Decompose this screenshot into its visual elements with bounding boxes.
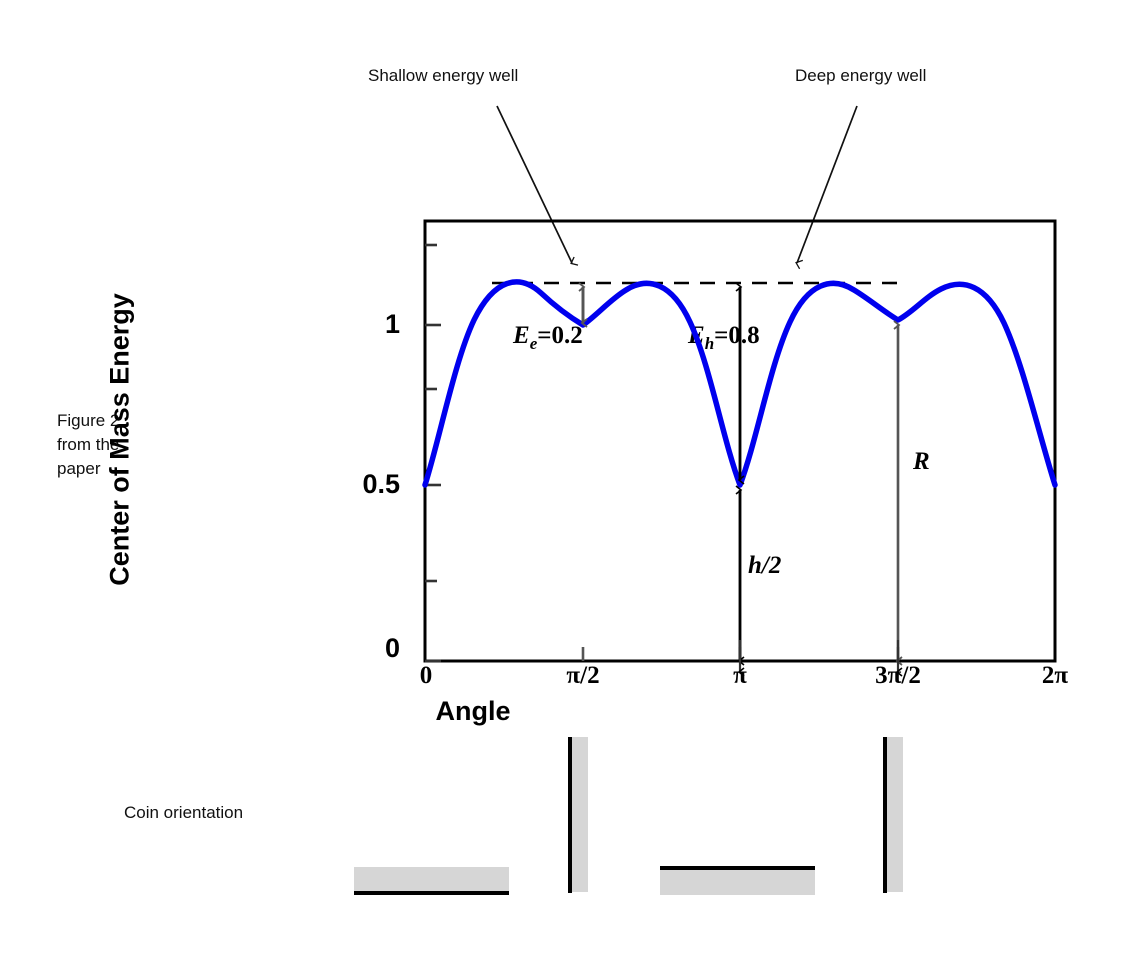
coin-vertical-left-2 xyxy=(885,737,903,893)
figure-root: Figure 2 from the paper Shallow energy w… xyxy=(0,0,1134,954)
figure-canvas xyxy=(0,0,1134,954)
coin-flat-edge-top xyxy=(660,868,815,895)
coin-orientation-strip xyxy=(354,737,903,895)
coin-flat-edge-bottom xyxy=(354,867,509,893)
coin-vertical-left-1 xyxy=(570,737,588,893)
axis-pierce-arrows xyxy=(740,640,898,672)
deep-well-leader-arrow xyxy=(797,106,857,263)
shallow-well-leader-arrow xyxy=(497,106,572,263)
